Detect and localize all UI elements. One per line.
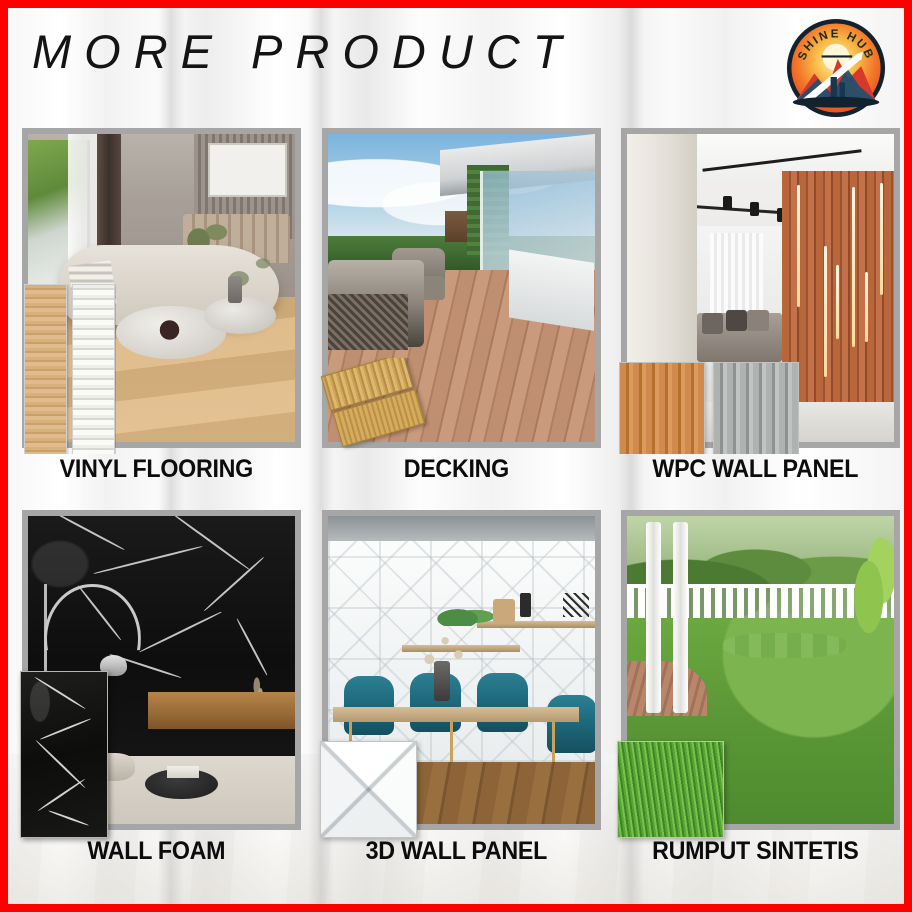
product-label-rumput-sintetis: RUMPUT SINTETIS <box>623 838 888 866</box>
product-label-wall-foam: WALL FOAM <box>24 838 289 866</box>
product-cell-decking[interactable]: DECKING <box>314 126 599 508</box>
product-label-3d-wall-panel: 3D WALL PANEL <box>324 838 589 866</box>
vinyl-plank-samples <box>24 284 116 454</box>
product-cell-wall-foam[interactable]: WALL FOAM <box>14 508 299 890</box>
product-card[interactable] <box>22 128 301 448</box>
product-cell-rumput-sintetis[interactable]: RUMPUT SINTETIS <box>613 508 898 890</box>
product-card[interactable] <box>621 128 900 448</box>
product-label-wpc-wall-panel: WPC WALL PANEL <box>623 456 888 484</box>
wpc-panel-grey-sample <box>713 362 799 454</box>
page-title: MORE PRODUCT <box>32 28 574 75</box>
product-card[interactable] <box>322 128 601 448</box>
product-label-vinyl-flooring: VINYL FLOORING <box>24 456 289 484</box>
poster-header: MORE PRODUCT <box>8 8 904 126</box>
decking-board-samples <box>320 358 430 458</box>
product-card[interactable] <box>621 510 900 830</box>
product-cell-vinyl-flooring[interactable]: VINYL FLOORING <box>14 126 299 508</box>
product-card[interactable] <box>322 510 601 830</box>
synthetic-grass-sample <box>617 741 724 838</box>
poster: MORE PRODUCT <box>0 0 912 912</box>
wpc-panel-wood-sample <box>619 362 705 454</box>
product-cell-wpc-wall-panel[interactable]: WPC WALL PANEL <box>613 126 898 508</box>
vinyl-plank-whitewash <box>72 284 115 454</box>
product-card[interactable] <box>22 510 301 830</box>
wall-foam-sample <box>20 671 108 838</box>
product-grid: VINYL FLOORING <box>14 126 898 890</box>
shine-hub-logo: SHINE HUB <box>782 14 890 122</box>
vinyl-plank-oak <box>24 284 67 454</box>
product-label-decking: DECKING <box>324 456 589 484</box>
3d-panel-sample <box>320 741 417 838</box>
wpc-panel-samples <box>619 362 799 454</box>
product-cell-3d-wall-panel[interactable]: 3D WALL PANEL <box>314 508 599 890</box>
